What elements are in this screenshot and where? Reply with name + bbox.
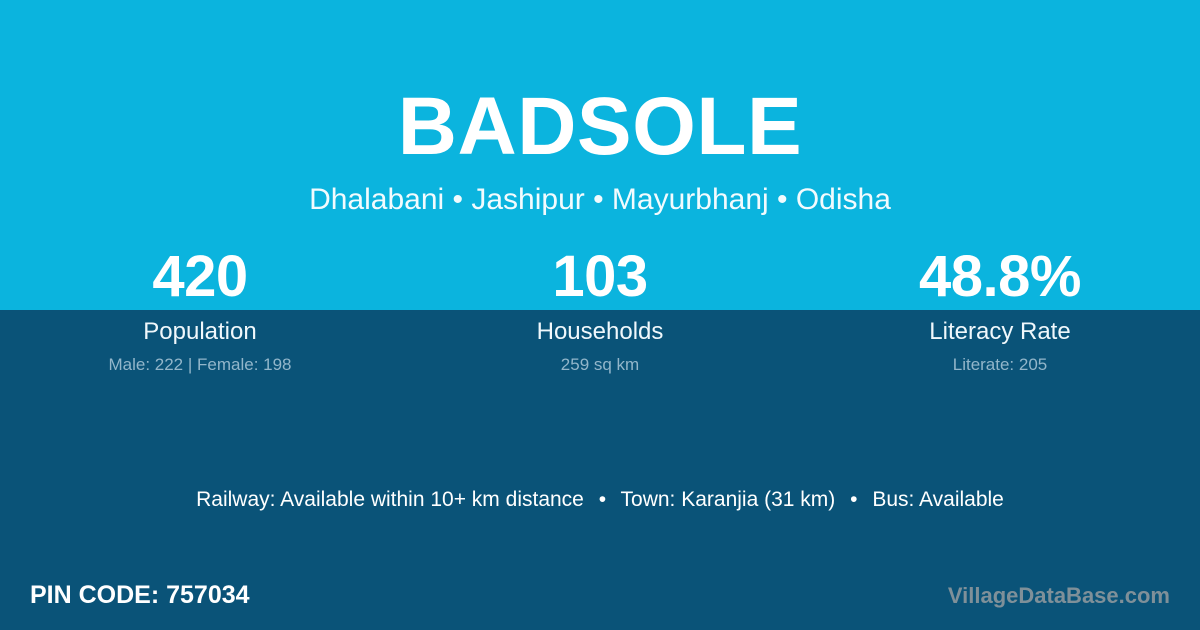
stat-value-population: 420: [0, 244, 400, 310]
stats-row: 420 Population Male: 222 | Female: 198 1…: [0, 244, 1200, 375]
connectivity-separator-2: •: [841, 488, 866, 511]
card-footer: PIN CODE: 757034 VillageDataBase.com: [0, 575, 1200, 630]
breadcrumb: Dhalabani • Jashipur • Mayurbhanj • Odis…: [0, 183, 1200, 217]
stat-label-literacy-rate: Literacy Rate: [800, 318, 1200, 346]
site-brand: VillageDataBase.com: [948, 582, 1170, 610]
village-info-card: BADSOLE Dhalabani • Jashipur • Mayurbhan…: [0, 0, 1200, 630]
stat-value-households: 103: [400, 244, 800, 310]
connectivity-town: Town: Karanjia (31 km): [621, 488, 836, 511]
stat-literacy-rate: 48.8% Literacy Rate Literate: 205: [800, 244, 1200, 375]
stat-sub-households: 259 sq km: [400, 355, 800, 375]
connectivity-info: Railway: Available within 10+ km distanc…: [0, 486, 1200, 513]
stat-label-households: Households: [400, 318, 800, 346]
pin-code: PIN CODE: 757034: [30, 580, 250, 610]
stat-value-literacy-rate: 48.8%: [800, 244, 1200, 310]
connectivity-railway: Railway: Available within 10+ km distanc…: [196, 488, 584, 511]
stat-sub-literacy-rate: Literate: 205: [800, 355, 1200, 375]
stat-population: 420 Population Male: 222 | Female: 198: [0, 244, 400, 375]
stat-households: 103 Households 259 sq km: [400, 244, 800, 375]
page-title: BADSOLE: [0, 79, 1200, 175]
stat-label-population: Population: [0, 318, 400, 346]
stat-sub-population: Male: 222 | Female: 198: [0, 355, 400, 375]
connectivity-separator-1: •: [590, 488, 615, 511]
connectivity-bus: Bus: Available: [872, 488, 1004, 511]
